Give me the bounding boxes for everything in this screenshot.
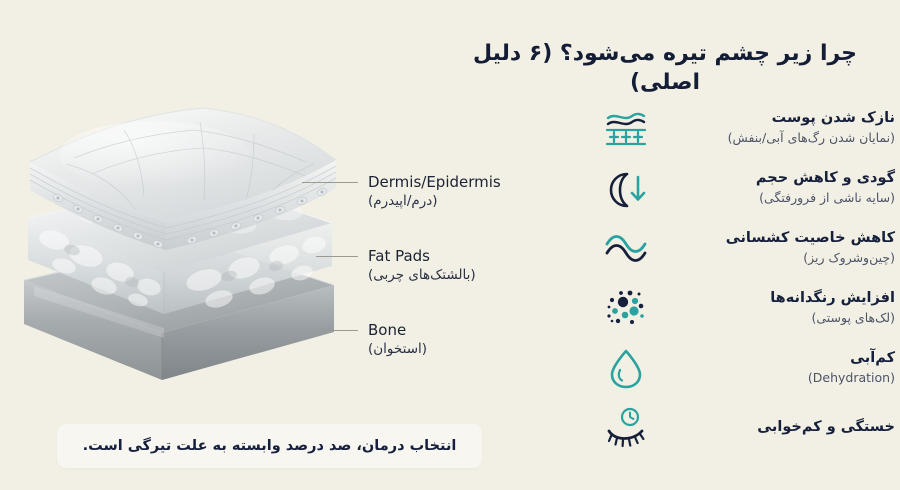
leader-line-bone (318, 330, 358, 331)
summary-caption-text: انتخاب درمان، صد درصد وابسته به علت تیرگ… (83, 438, 457, 454)
reason-item-elasticity-loss-main: کاهش خاصیت کشسانی (666, 229, 895, 249)
infographic-canvas: چرا زیر چشم تیره می‌شود؟ (۶ دلیل اصلی) (0, 0, 900, 490)
sleepy-eye-clock-icon (600, 402, 652, 454)
leader-line-fatpads (316, 256, 358, 257)
reason-item-skin-thinning-text: نازک شدن پوست (نمایان شدن رگ‌های آبی/بنف… (652, 109, 895, 146)
reason-item-dehydration[interactable]: کم‌آبی (Dehydration) (600, 340, 895, 396)
anatomy-label-dermis-en: Dermis/Epidermis (368, 172, 501, 192)
anatomy-label-bone-fa: (استخوان) (368, 340, 427, 359)
reason-item-fatigue[interactable]: خستگی و کم‌خوابی (600, 400, 895, 456)
anatomy-label-dermis-fa: (درم/اپیدرم) (368, 192, 501, 211)
anatomy-label-dermis: Dermis/Epidermis (درم/اپیدرم) (368, 172, 501, 211)
reason-item-fatigue-main: خستگی و کم‌خوابی (666, 418, 895, 438)
reason-item-pigmentation-main: افزایش رنگدانه‌ها (666, 289, 895, 309)
reason-item-pigmentation[interactable]: افزایش رنگدانه‌ها (لک‌های پوستی) (600, 280, 895, 336)
reason-item-skin-thinning-main: نازک شدن پوست (666, 109, 895, 129)
summary-caption-bar: انتخاب درمان، صد درصد وابسته به علت تیرگ… (57, 424, 482, 468)
double-wave-icon (600, 222, 652, 274)
water-droplet-icon (600, 342, 652, 394)
reason-item-skin-thinning[interactable]: نازک شدن پوست (نمایان شدن رگ‌های آبی/بنف… (600, 100, 895, 156)
anatomy-label-bone: Bone (استخوان) (368, 320, 427, 359)
page-title: چرا زیر چشم تیره می‌شود؟ (۶ دلیل اصلی) (450, 40, 880, 97)
reason-item-elasticity-loss-text: کاهش خاصیت کشسانی (چین‌وشروک ریز) (652, 229, 895, 266)
skin-layers-icon (600, 102, 652, 154)
anatomy-label-fatpads-fa: (بالشتک‌های چربی) (368, 266, 476, 285)
reason-item-volume-loss-sub: (سایه ناشی از فرورفتگی) (666, 189, 895, 207)
pigment-dots-icon (600, 282, 652, 334)
reason-item-elasticity-loss-sub: (چین‌وشروک ریز) (666, 249, 895, 267)
reason-item-dehydration-text: کم‌آبی (Dehydration) (652, 349, 895, 386)
skin-layers-illustration (14, 100, 354, 410)
reason-item-volume-loss-main: گودی و کاهش حجم (666, 169, 895, 189)
reason-item-volume-loss[interactable]: گودی و کاهش حجم (سایه ناشی از فرورفتگی) (600, 160, 895, 216)
reason-item-dehydration-sub: (Dehydration) (666, 369, 895, 387)
reason-item-dehydration-main: کم‌آبی (666, 349, 895, 369)
anatomy-label-fatpads-en: Fat Pads (368, 246, 476, 266)
reason-item-volume-loss-text: گودی و کاهش حجم (سایه ناشی از فرورفتگی) (652, 169, 895, 206)
moon-down-arrow-icon (600, 162, 652, 214)
anatomy-label-fatpads: Fat Pads (بالشتک‌های چربی) (368, 246, 476, 285)
reason-item-elasticity-loss[interactable]: کاهش خاصیت کشسانی (چین‌وشروک ریز) (600, 220, 895, 276)
reason-item-skin-thinning-sub: (نمایان شدن رگ‌های آبی/بنفش) (666, 129, 895, 147)
leader-line-dermis (302, 182, 358, 183)
reason-item-fatigue-text: خستگی و کم‌خوابی (652, 418, 895, 438)
reason-item-pigmentation-sub: (لک‌های پوستی) (666, 309, 895, 327)
anatomy-label-bone-en: Bone (368, 320, 427, 340)
reason-item-pigmentation-text: افزایش رنگدانه‌ها (لک‌های پوستی) (652, 289, 895, 326)
skin-cross-section-svg (14, 100, 354, 410)
